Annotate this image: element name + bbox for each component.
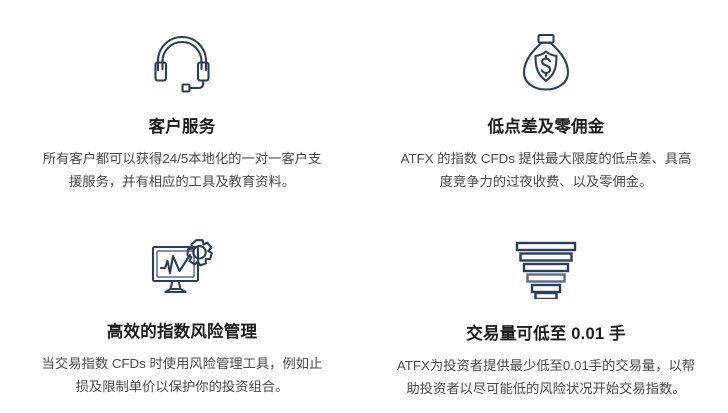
- feature-title: 客户服务: [149, 117, 216, 138]
- feature-description: ATFX 的指数 CFDs 提供最大限度的低点差、具高度竞争力的过夜收费、以及零…: [396, 148, 696, 194]
- feature-description: 所有客户都可以获得24/5本地化的一对一客户支援服务，并有相应的工具及教育资料。: [38, 148, 326, 194]
- money-bag-shield-dollar-icon: [515, 27, 577, 99]
- feature-card-risk-management: 高效的指数风险管理 当交易指数 CFDs 时使用风险管理工具，例如止损及限制单价…: [0, 207, 364, 413]
- headset-icon: [151, 27, 213, 99]
- feature-card-low-spread: 低点差及零佣金 ATFX 的指数 CFDs 提供最大限度的低点差、具高度竞争力的…: [364, 0, 728, 207]
- feature-title: 低点差及零佣金: [488, 117, 605, 138]
- feature-card-minimum-lot: 交易量可低至 0.01 手 ATFX为投资者提供最少低至0.01手的交易量，以帮…: [364, 207, 728, 413]
- funnel-bars-icon: [515, 234, 577, 306]
- feature-description: ATFX为投资者提供最少低至0.01手的交易量，以帮助投资者以尽可能低的风险状况…: [396, 355, 696, 401]
- feature-title: 高效的指数风险管理: [107, 322, 257, 343]
- feature-title: 交易量可低至 0.01 手: [466, 324, 625, 345]
- features-grid: 客户服务 所有客户都可以获得24/5本地化的一对一客户支援服务，并有相应的工具及…: [0, 0, 728, 413]
- monitor-chart-gear-icon: [150, 232, 214, 304]
- feature-card-customer-service: 客户服务 所有客户都可以获得24/5本地化的一对一客户支援服务，并有相应的工具及…: [0, 0, 364, 207]
- feature-description: 当交易指数 CFDs 时使用风险管理工具，例如止损及限制单价以保护你的投资组合。: [38, 353, 326, 399]
